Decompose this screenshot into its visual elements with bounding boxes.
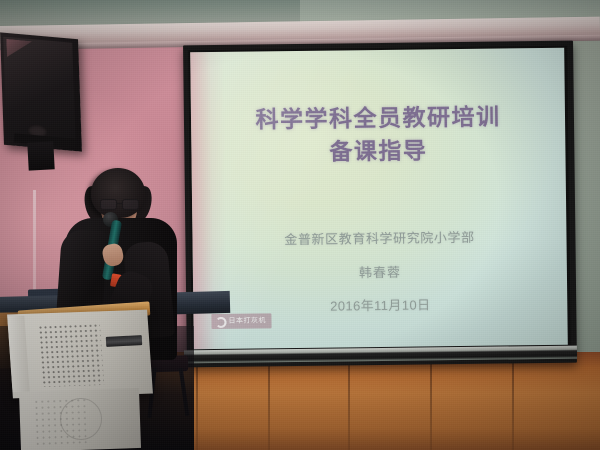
eyeglasses-icon (100, 199, 139, 208)
podium-perforation-panel (38, 323, 104, 387)
panel-seam (512, 356, 514, 450)
slide-watermark-label: 日本打灰机 (228, 316, 266, 326)
podium-slot (106, 335, 142, 347)
eyeglass-lens-right (122, 199, 139, 210)
slide-watermark: 日本打灰机 (211, 313, 271, 329)
eyeglass-lens-left (100, 199, 117, 210)
slide-organization: 金普新区教育科学研究院小学部 (192, 226, 566, 250)
slide-title-line-1: 科学学科全员教研培训 (255, 104, 500, 133)
panel-seam (268, 356, 270, 450)
slide-title: 科学学科全员教研培训 备课指导 (191, 100, 566, 171)
wall-speaker (0, 32, 82, 151)
slide-title-line-2: 备课指导 (191, 133, 565, 171)
panel-seam (196, 356, 198, 450)
speaker-mount (27, 141, 54, 170)
panel-seam (430, 356, 432, 450)
projection-screen: 科学学科全员教研培训 备课指导 金普新区教育科学研究院小学部 韩春蓉 2016年… (190, 48, 568, 350)
circle-logo-icon (214, 316, 225, 327)
panel-seam (348, 356, 350, 450)
presenter-hair (91, 168, 145, 218)
slide-presenter-name: 韩春蓉 (193, 260, 567, 284)
presentation-photo: 科学学科全员教研培训 备课指导 金普新区教育科学研究院小学部 韩春蓉 2016年… (0, 0, 600, 450)
